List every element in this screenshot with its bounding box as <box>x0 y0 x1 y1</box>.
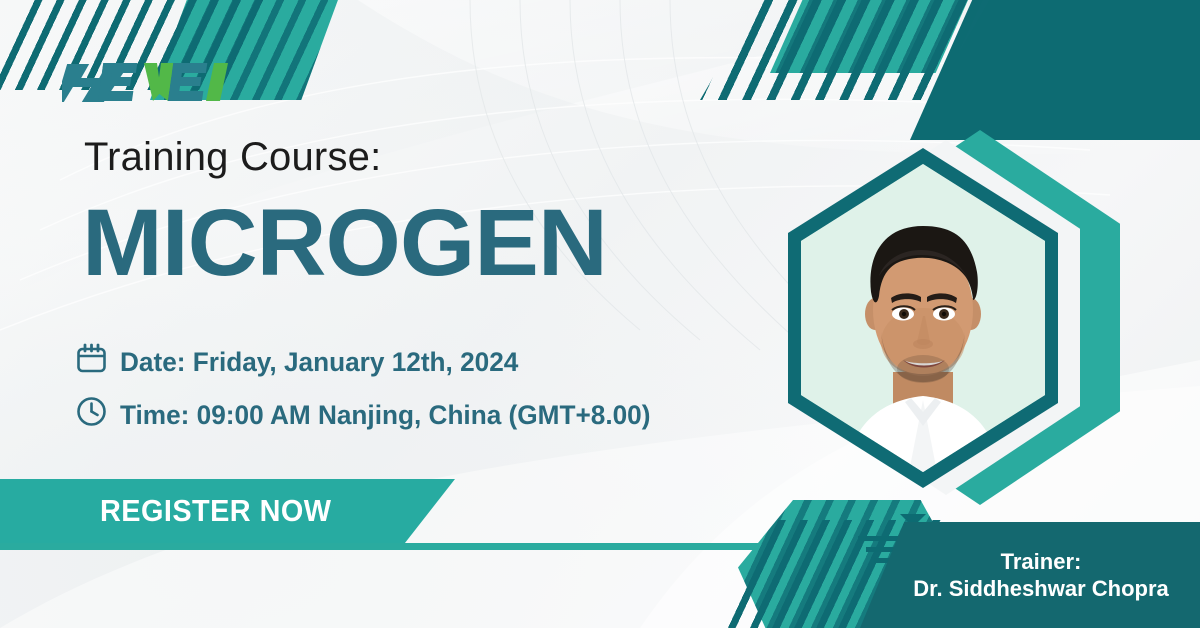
promo-banner: Training Course: MICROGEN Date: Friday, … <box>0 0 1200 628</box>
clock-icon <box>76 396 107 434</box>
trainer-label: Trainer: <box>1001 548 1082 576</box>
trainer-info-panel: Trainer: Dr. Siddheshwar Chopra <box>860 522 1200 628</box>
detail-row-date: Date: Friday, January 12th, 2024 <box>76 343 531 381</box>
detail-text-date: Date: Friday, January 12th, 2024 <box>120 347 518 378</box>
register-now-button[interactable]: REGISTER NOW <box>0 479 455 543</box>
detail-text-time: Time: 09:00 AM Nanjing, China (GMT+8.00) <box>120 400 650 431</box>
detail-row-time: Time: 09:00 AM Nanjing, China (GMT+8.00) <box>76 396 667 434</box>
trainer-name: Dr. Siddheshwar Chopra <box>913 575 1169 603</box>
register-now-label: REGISTER NOW <box>100 493 331 529</box>
page-kicker: Training Course: <box>84 135 381 180</box>
hewei-logo <box>62 58 232 106</box>
calendar-icon <box>76 343 107 381</box>
page-title: MICROGEN <box>82 196 607 291</box>
trainer-photo-hexagon <box>760 130 1120 505</box>
